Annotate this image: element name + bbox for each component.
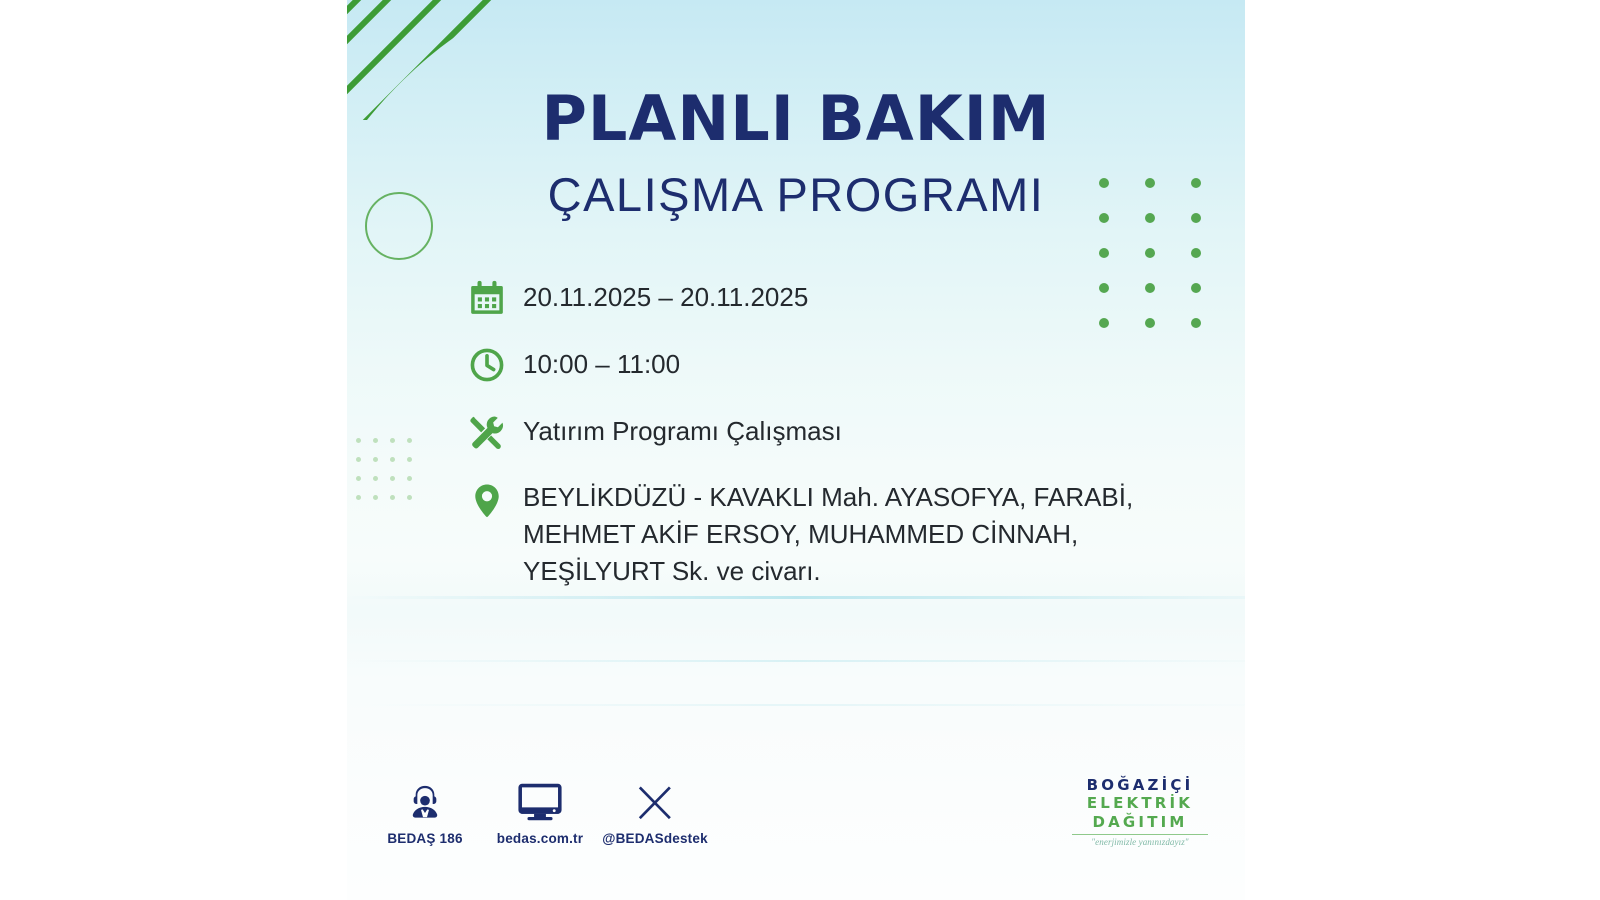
- screenshot-canvas: PLANLI BAKIM ÇALIŞMA PROGRAMI: [0, 0, 1600, 900]
- detail-row-work-type: Yatırım Programı Çalışması: [465, 410, 1205, 454]
- dot-grid-decoration-left: [356, 438, 424, 514]
- detail-row-time: 10:00 – 11:00: [465, 343, 1205, 387]
- logo-line-3: DAĞITIM: [1070, 813, 1210, 831]
- contact-phone-label: BEDAŞ 186: [387, 831, 462, 846]
- x-logo-icon: [636, 778, 674, 822]
- date-range-value: 20.11.2025 – 20.11.2025: [523, 276, 808, 310]
- location-line: BEYLİKDÜZÜ - KAVAKLI Mah. AYASOFYA, FARA…: [523, 479, 1133, 516]
- contact-phone[interactable]: BEDAŞ 186: [375, 778, 475, 846]
- background-band: [347, 704, 1245, 706]
- contact-x[interactable]: @BEDASdestek: [605, 778, 705, 846]
- planned-maintenance-poster: PLANLI BAKIM ÇALIŞMA PROGRAMI: [347, 0, 1245, 900]
- contact-website-label: bedas.com.tr: [497, 831, 583, 846]
- work-type-value: Yatırım Programı Çalışması: [523, 410, 842, 444]
- tools-icon: [465, 410, 509, 454]
- location-pin-icon: [465, 477, 509, 523]
- maintenance-details: 20.11.2025 – 20.11.2025 10:00 – 11:00: [465, 276, 1205, 590]
- logo-line-1: BOĞAZİÇİ: [1070, 776, 1210, 794]
- detail-row-location: BEYLİKDÜZÜ - KAVAKLI Mah. AYASOFYA, FARA…: [465, 477, 1205, 590]
- clock-icon: [465, 343, 509, 387]
- logo-divider: [1072, 834, 1208, 835]
- detail-row-date: 20.11.2025 – 20.11.2025: [465, 276, 1205, 320]
- location-line: MEHMET AKİF ERSOY, MUHAMMED CİNNAH,: [523, 516, 1133, 553]
- background-band: [347, 660, 1245, 662]
- location-line: YEŞİLYURT Sk. ve civarı.: [523, 553, 1133, 590]
- title-line-primary: PLANLI BAKIM: [347, 88, 1245, 150]
- calendar-icon: [465, 276, 509, 320]
- logo-line-2: ELEKTRİK: [1070, 794, 1210, 812]
- title-line-secondary: ÇALIŞMA PROGRAMI: [347, 171, 1245, 218]
- footer-contact-channels: BEDAŞ 186 bedas.com.tr: [375, 778, 705, 846]
- bedas-logo: BOĞAZİÇİ ELEKTRİK DAĞITIM "enerjimizle y…: [1070, 776, 1210, 847]
- contact-website[interactable]: bedas.com.tr: [490, 778, 590, 846]
- monitor-icon: [518, 778, 562, 822]
- background-band: [347, 596, 1245, 599]
- time-range-value: 10:00 – 11:00: [523, 343, 680, 377]
- support-agent-icon: [405, 778, 445, 822]
- page-title: PLANLI BAKIM ÇALIŞMA PROGRAMI: [347, 88, 1245, 218]
- logo-tagline: "enerjimizle yanınızdayız": [1070, 837, 1210, 847]
- location-value: BEYLİKDÜZÜ - KAVAKLI Mah. AYASOFYA, FARA…: [523, 477, 1133, 590]
- contact-x-label: @BEDASdestek: [602, 831, 708, 846]
